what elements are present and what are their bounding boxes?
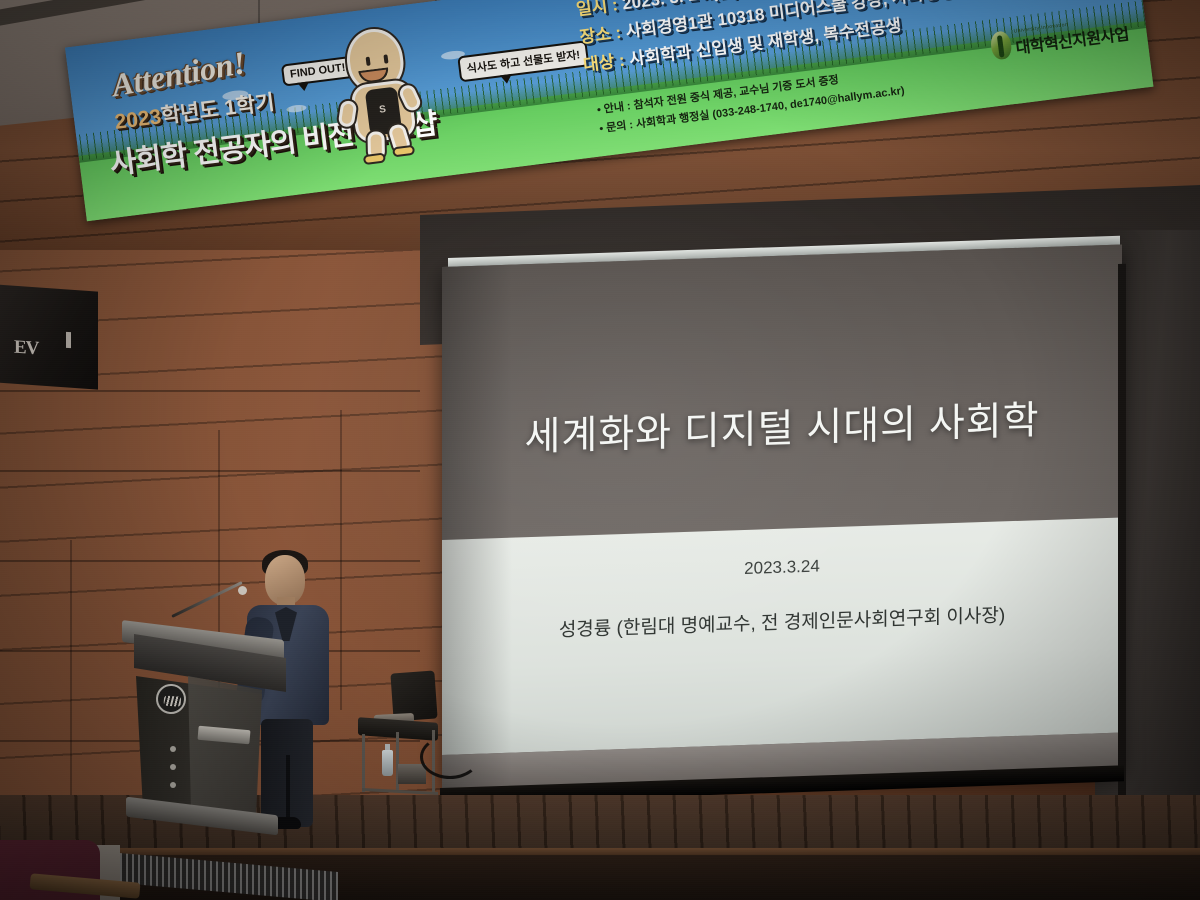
floor-box (398, 764, 426, 784)
lectern-button[interactable] (170, 782, 176, 788)
wall-seam (0, 390, 420, 392)
water-bottle (382, 750, 393, 776)
mascot-eye-icon (366, 57, 371, 66)
projection-screen: 세계화와 디지털 시대의 사회학 2023.3.24 성경륭 (한림대 명예교수… (420, 258, 1120, 818)
chair-rail (362, 788, 438, 795)
side-chair (352, 672, 448, 802)
lectern-button[interactable] (170, 746, 176, 752)
wall-seam (0, 470, 420, 472)
info-label: 대상 : (582, 51, 626, 75)
presentation-slide: 세계화와 디지털 시대의 사회학 2023.3.24 성경륭 (한림대 명예교수… (442, 244, 1122, 792)
speaker-led-icon (66, 332, 71, 348)
lectern (130, 630, 280, 815)
banner-year-number: 2023 (113, 105, 162, 134)
microphone-head-icon (238, 586, 247, 595)
auditorium-photo: EV 세계화와 디지털 시대의 사회학 2023.3.24 성경륭 (한림대 명… (0, 0, 1200, 900)
lectern-side-panel (188, 676, 262, 816)
cable-coil (420, 735, 480, 779)
mascot-eye-icon (383, 54, 388, 63)
mascot-character: S (327, 21, 435, 163)
screen-right-frame (1118, 264, 1126, 802)
screen-surface: 세계화와 디지털 시대의 사회학 2023.3.24 성경륭 (한림대 명예교수… (442, 244, 1122, 792)
sponsor-mark-icon (990, 30, 1013, 60)
info-label: 일시 : (575, 0, 619, 19)
ev-brand-label: EV (14, 337, 54, 362)
lectern-button[interactable] (170, 764, 176, 770)
info-label: 장소 : (579, 23, 623, 47)
mascot-vest-letter: S (379, 104, 387, 116)
